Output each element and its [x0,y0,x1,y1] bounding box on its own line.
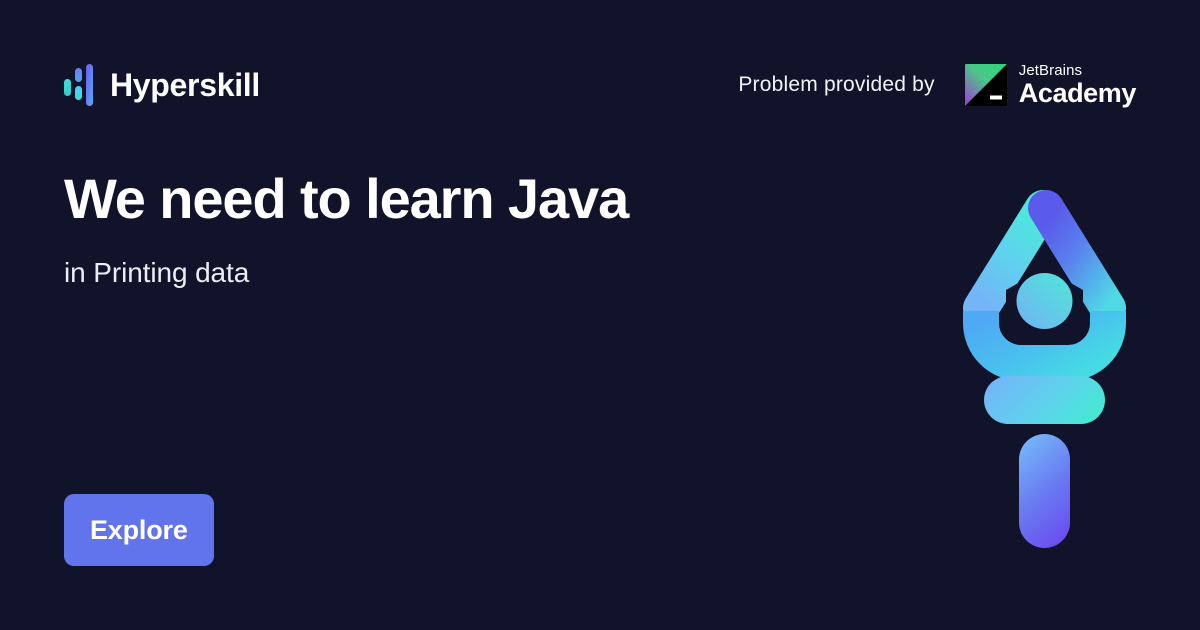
card-content: We need to learn Java in Printing data [64,168,864,289]
academy-word: Academy [1019,80,1136,107]
hyperskill-brand[interactable]: Hyperskill [64,61,260,109]
torch-handle [1019,434,1070,548]
jetbrains-square-icon [965,64,1007,106]
problem-card: Hyperskill Problem provided by [0,0,1200,630]
torch-head [981,208,1108,363]
hyperskill-torch-icon [957,180,1132,555]
jetbrains-academy-logo[interactable]: JetBrains Academy [965,63,1136,107]
provider-attribution: Problem provided by [738,63,1136,107]
jetbrains-academy-wordmark: JetBrains Academy [1019,63,1136,107]
hyperskill-brand-name: Hyperskill [110,69,260,101]
torch-collar [984,376,1105,424]
explore-button[interactable]: Explore [64,494,214,566]
page-title: We need to learn Java [64,168,854,231]
provider-label: Problem provided by [738,73,934,97]
page-subtitle: in Printing data [64,257,864,289]
jetbrains-word: JetBrains [1019,63,1136,78]
card-header: Hyperskill Problem provided by [64,55,1136,115]
hyperskill-bars-icon [64,64,94,106]
